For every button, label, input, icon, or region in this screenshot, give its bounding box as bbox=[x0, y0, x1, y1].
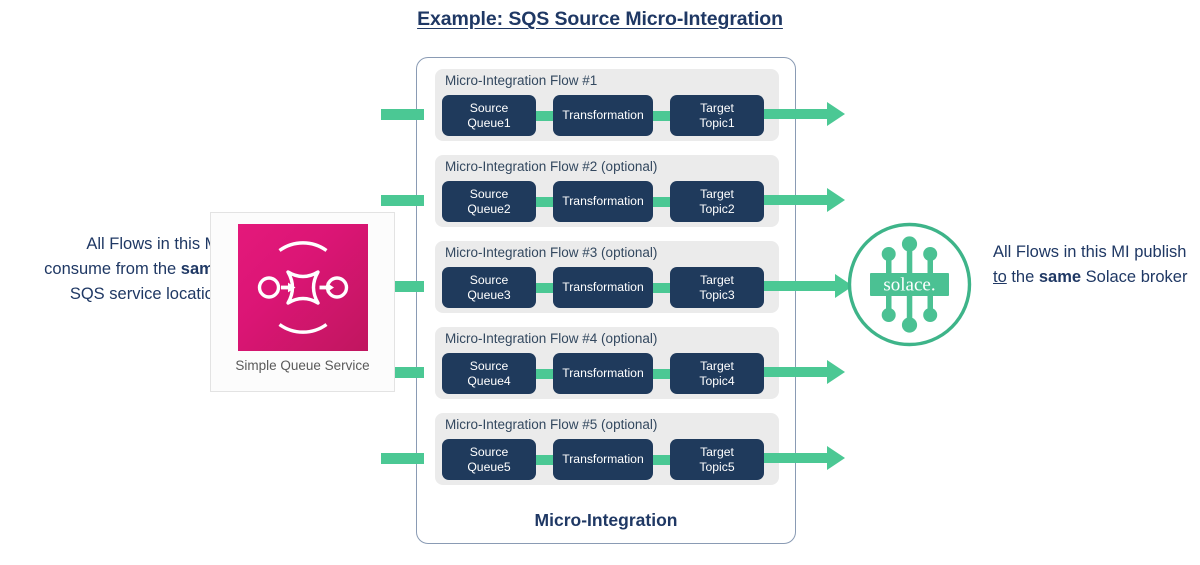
flow-5-source-line2: Queue5 bbox=[467, 460, 510, 475]
svg-text:solace.: solace. bbox=[883, 275, 935, 296]
right-annotation-underlined: to bbox=[993, 268, 1007, 286]
flow-3-target-line1: Target bbox=[700, 273, 734, 288]
flow-3-source-line1: Source bbox=[470, 273, 509, 288]
flow-row-4[interactable]: Micro-Integration Flow #4 (optional) Sou… bbox=[435, 327, 779, 399]
flow-2-pipeline: Source Queue2 Transformation Target Topi… bbox=[442, 181, 772, 222]
flow-4-target-line2: Topic4 bbox=[699, 374, 734, 389]
flow-3-transformation-node[interactable]: Transformation bbox=[553, 267, 653, 308]
flow-3-target-line2: Topic3 bbox=[699, 288, 734, 303]
flow-1-target-node[interactable]: Target Topic1 bbox=[670, 95, 764, 136]
flow-1-link-source-transform bbox=[534, 111, 555, 121]
flow-3-source-node[interactable]: Source Queue3 bbox=[442, 267, 536, 308]
outbound-arrow-flow-4 bbox=[757, 358, 845, 386]
flow-2-label: Micro-Integration Flow #2 (optional) bbox=[445, 159, 657, 174]
flow-1-link-transform-target bbox=[651, 111, 672, 121]
page-title: Example: SQS Source Micro-Integration bbox=[0, 8, 1200, 31]
outbound-arrow-flow-1 bbox=[757, 100, 845, 128]
flow-1-label: Micro-Integration Flow #1 bbox=[445, 73, 597, 88]
flow-5-source-node[interactable]: Source Queue5 bbox=[442, 439, 536, 480]
right-annotation: All Flows in this MI publish to the same… bbox=[993, 240, 1193, 290]
flow-2-target-node[interactable]: Target Topic2 bbox=[670, 181, 764, 222]
flow-4-link-source-transform bbox=[534, 369, 555, 379]
inbound-connector-flow-1 bbox=[381, 109, 424, 120]
flow-4-source-node[interactable]: Source Queue4 bbox=[442, 353, 536, 394]
flow-1-transformation-node[interactable]: Transformation bbox=[553, 95, 653, 136]
left-annotation-part2: SQS service location bbox=[70, 285, 223, 303]
flow-4-source-line2: Queue4 bbox=[467, 374, 510, 389]
flow-4-target-line1: Target bbox=[700, 359, 734, 374]
flow-3-link-source-transform bbox=[534, 283, 555, 293]
micro-integration-container: Micro-Integration Flow #1 Source Queue1 … bbox=[416, 57, 796, 544]
flow-4-pipeline: Source Queue4 Transformation Target Topi… bbox=[442, 353, 772, 394]
outbound-arrow-flow-2 bbox=[757, 186, 845, 214]
flow-2-transformation-label: Transformation bbox=[562, 194, 644, 209]
flow-1-target-line1: Target bbox=[700, 101, 734, 116]
flow-2-target-line1: Target bbox=[700, 187, 734, 202]
outbound-arrow-flow-3 bbox=[757, 272, 853, 300]
flow-row-2[interactable]: Micro-Integration Flow #2 (optional) Sou… bbox=[435, 155, 779, 227]
flow-5-label: Micro-Integration Flow #5 (optional) bbox=[445, 417, 657, 432]
flow-row-3[interactable]: Micro-Integration Flow #3 (optional) Sou… bbox=[435, 241, 779, 313]
right-annotation-emphasis: same bbox=[1039, 268, 1081, 286]
flow-4-link-transform-target bbox=[651, 369, 672, 379]
flow-3-label: Micro-Integration Flow #3 (optional) bbox=[445, 245, 657, 260]
aws-simple-queue-service-icon bbox=[238, 224, 368, 351]
flow-1-source-line1: Source bbox=[470, 101, 509, 116]
flow-1-target-line2: Topic1 bbox=[699, 116, 734, 131]
aws-sqs-service-card: Simple Queue Service bbox=[210, 212, 395, 392]
flow-1-source-node[interactable]: Source Queue1 bbox=[442, 95, 536, 136]
flow-3-transformation-label: Transformation bbox=[562, 280, 644, 295]
flow-2-transformation-node[interactable]: Transformation bbox=[553, 181, 653, 222]
flow-5-transformation-node[interactable]: Transformation bbox=[553, 439, 653, 480]
flow-5-target-line2: Topic5 bbox=[699, 460, 734, 475]
flow-3-source-line2: Queue3 bbox=[467, 288, 510, 303]
flow-2-link-transform-target bbox=[651, 197, 672, 207]
flow-row-5[interactable]: Micro-Integration Flow #5 (optional) Sou… bbox=[435, 413, 779, 485]
solace-broker-icon: solace. bbox=[846, 221, 973, 348]
micro-integration-label: Micro-Integration bbox=[417, 510, 795, 531]
flow-row-1[interactable]: Micro-Integration Flow #1 Source Queue1 … bbox=[435, 69, 779, 141]
flow-5-link-transform-target bbox=[651, 455, 672, 465]
flow-2-source-line2: Queue2 bbox=[467, 202, 510, 217]
flow-5-link-source-transform bbox=[534, 455, 555, 465]
flow-1-source-line2: Queue1 bbox=[467, 116, 510, 131]
flow-2-source-node[interactable]: Source Queue2 bbox=[442, 181, 536, 222]
flow-5-target-node[interactable]: Target Topic5 bbox=[670, 439, 764, 480]
flow-5-pipeline: Source Queue5 Transformation Target Topi… bbox=[442, 439, 772, 480]
flow-3-pipeline: Source Queue3 Transformation Target Topi… bbox=[442, 267, 772, 308]
inbound-connector-flow-5 bbox=[381, 453, 424, 464]
left-annotation: All Flows in this MI consume from the sa… bbox=[35, 232, 223, 307]
flow-5-source-line1: Source bbox=[470, 445, 509, 460]
right-annotation-part1: All Flows in this MI publish bbox=[993, 243, 1186, 261]
aws-sqs-label: Simple Queue Service bbox=[211, 358, 394, 373]
flow-4-transformation-node[interactable]: Transformation bbox=[553, 353, 653, 394]
flow-2-source-line1: Source bbox=[470, 187, 509, 202]
flow-2-target-line2: Topic2 bbox=[699, 202, 734, 217]
flow-4-transformation-label: Transformation bbox=[562, 366, 644, 381]
flow-3-link-transform-target bbox=[651, 283, 672, 293]
right-annotation-part3: Solace broker bbox=[1081, 268, 1187, 286]
flow-2-link-source-transform bbox=[534, 197, 555, 207]
flow-1-pipeline: Source Queue1 Transformation Target Topi… bbox=[442, 95, 772, 136]
flow-4-label: Micro-Integration Flow #4 (optional) bbox=[445, 331, 657, 346]
right-annotation-part2: the bbox=[1007, 268, 1039, 286]
outbound-arrow-flow-5 bbox=[757, 444, 845, 472]
inbound-connector-flow-2 bbox=[381, 195, 424, 206]
flow-4-target-node[interactable]: Target Topic4 bbox=[670, 353, 764, 394]
flow-5-target-line1: Target bbox=[700, 445, 734, 460]
flow-3-target-node[interactable]: Target Topic3 bbox=[670, 267, 764, 308]
flow-1-transformation-label: Transformation bbox=[562, 108, 644, 123]
flow-4-source-line1: Source bbox=[470, 359, 509, 374]
flow-5-transformation-label: Transformation bbox=[562, 452, 644, 467]
